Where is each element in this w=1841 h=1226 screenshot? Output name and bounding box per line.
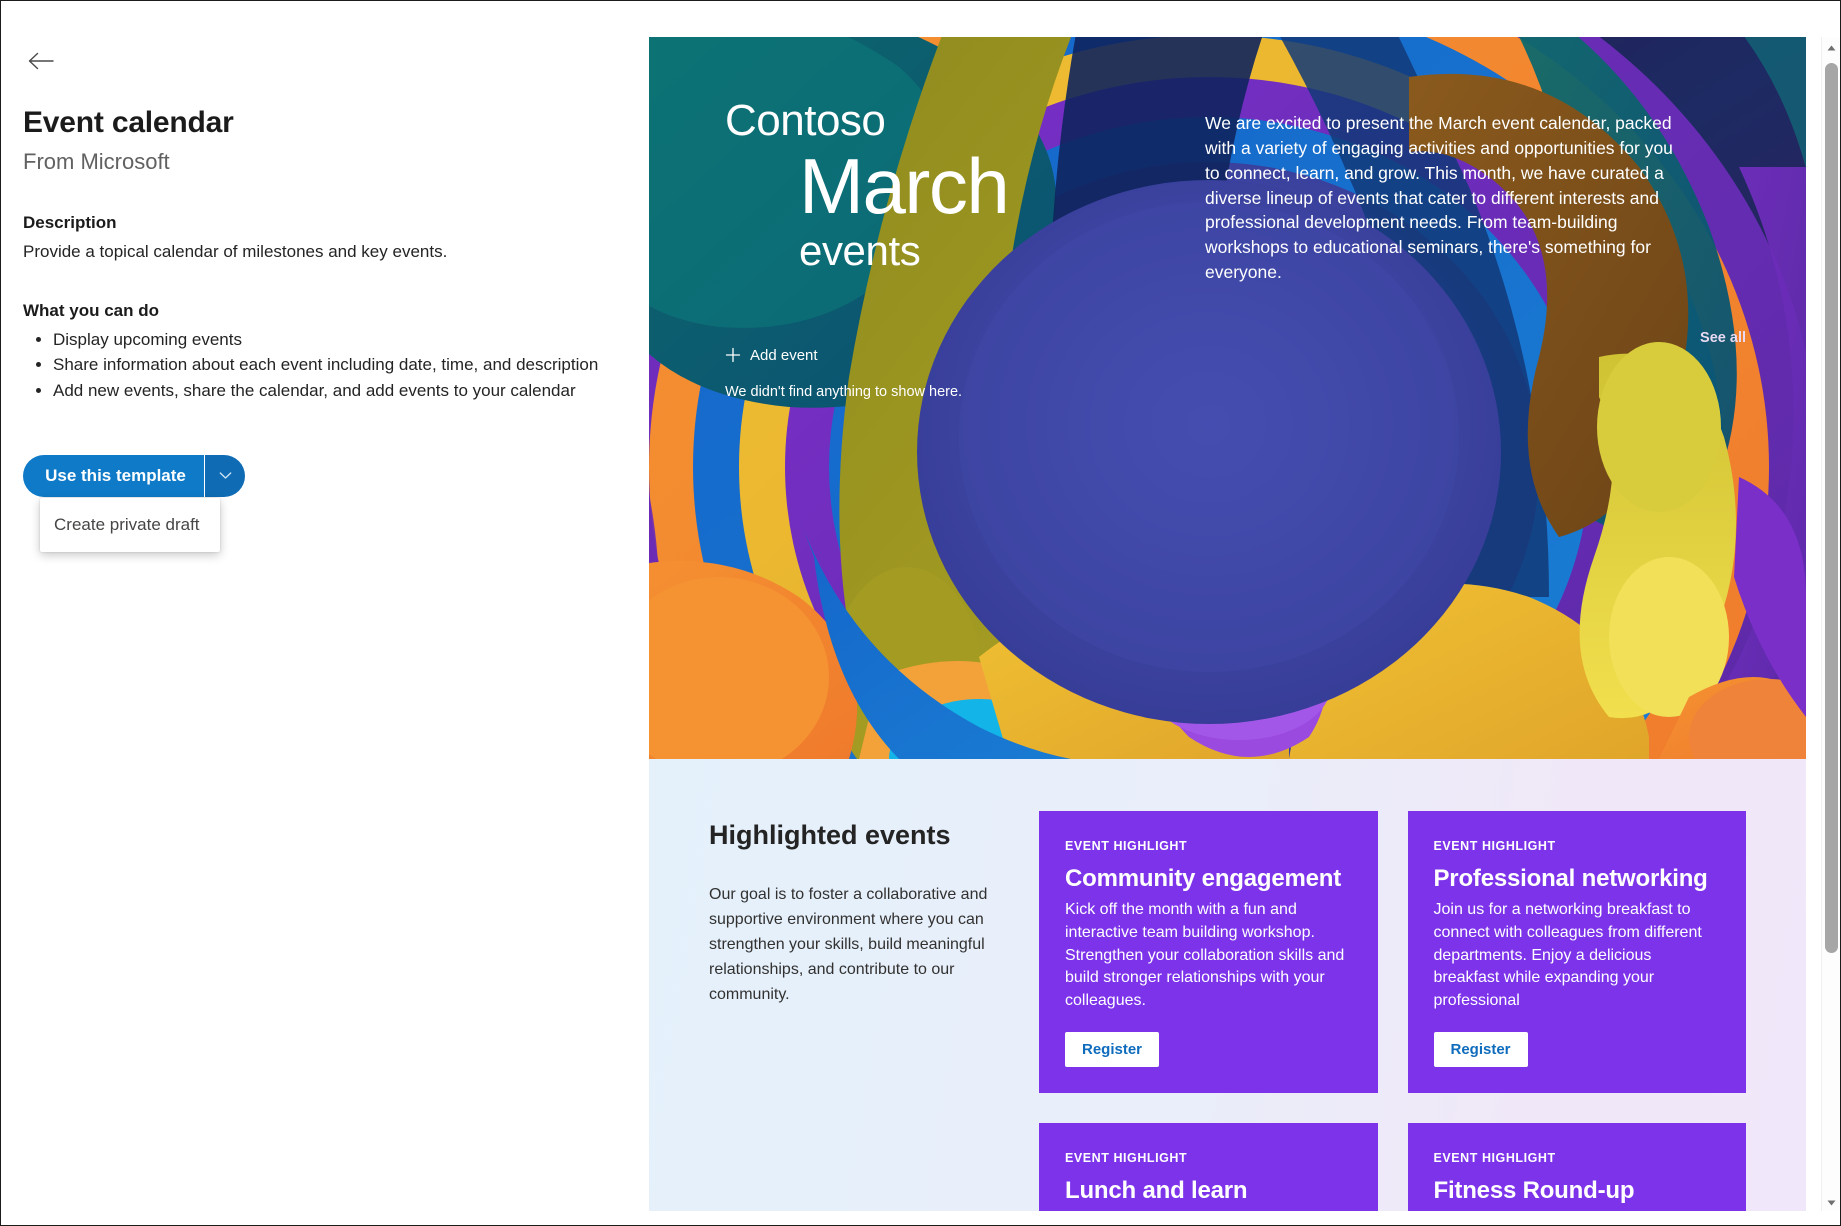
template-preview-pane: Contoso March events We are excited to p… [649, 37, 1823, 1211]
use-template-split-button: Use this template Create private draft [23, 455, 245, 497]
list-item: Add new events, share the calendar, and … [53, 379, 625, 403]
arrow-left-icon [28, 52, 54, 70]
card-body: Kick off the month with a fun and intera… [1065, 899, 1352, 1013]
template-info-pane: Event calendar From Microsoft Descriptio… [1, 1, 649, 1225]
page-title: Event calendar [23, 105, 625, 141]
hero-description: We are excited to present the March even… [1205, 111, 1675, 285]
register-button[interactable]: Register [1434, 1032, 1528, 1067]
highlights-intro: Highlighted events Our goal is to foster… [709, 811, 1005, 1211]
capabilities-list: Display upcoming events Share informatio… [23, 328, 625, 402]
scroll-up-button[interactable] [1822, 37, 1841, 56]
card-title: Professional networking [1434, 865, 1721, 893]
list-item: Display upcoming events [53, 328, 625, 352]
hero-subtitle: events [725, 229, 1165, 273]
highlights-title: Highlighted events [709, 819, 1005, 851]
card-kicker: EVENT HIGHLIGHT [1065, 839, 1352, 853]
hero-brand: Contoso [725, 97, 1165, 145]
event-card[interactable]: EVENT HIGHLIGHT Professional networking … [1408, 811, 1747, 1093]
card-kicker: EVENT HIGHLIGHT [1434, 839, 1721, 853]
register-button[interactable]: Register [1065, 1032, 1159, 1067]
hero-title-block: Contoso March events [725, 97, 1165, 285]
hero-description-block: We are excited to present the March even… [1205, 97, 1675, 285]
card-title: Fitness Round-up [1434, 1177, 1721, 1205]
card-kicker: EVENT HIGHLIGHT [1065, 1151, 1352, 1165]
card-body: Join us for a networking breakfast to co… [1434, 899, 1721, 1013]
template-detail-window: Event calendar From Microsoft Descriptio… [0, 0, 1841, 1226]
empty-state-message: We didn't find anything to show here. [725, 384, 1806, 400]
description-heading: Description [23, 212, 625, 234]
scroll-down-arrow-icon [1827, 1193, 1836, 1211]
card-title: Community engagement [1065, 865, 1352, 893]
event-cards-grid: EVENT HIGHLIGHT Community engagement Kic… [1039, 811, 1746, 1211]
card-title: Lunch and learn [1065, 1177, 1352, 1205]
description-text: Provide a topical calendar of milestones… [23, 240, 625, 265]
preview-scrollbar[interactable] [1821, 37, 1840, 1211]
highlights-body: Our goal is to foster a collaborative an… [709, 883, 1005, 1007]
event-card[interactable]: EVENT HIGHLIGHT Lunch and learn Join us … [1039, 1123, 1378, 1211]
capabilities-heading: What you can do [23, 300, 625, 322]
hero-month: March [725, 147, 1165, 225]
chevron-down-icon [219, 471, 232, 480]
list-item: Share information about each event inclu… [53, 353, 625, 377]
see-all-link[interactable]: See all [1700, 330, 1746, 346]
use-template-menu: Create private draft [40, 498, 220, 552]
hero-banner: Contoso March events We are excited to p… [649, 37, 1806, 759]
menu-item-create-private-draft[interactable]: Create private draft [40, 506, 220, 544]
template-author: From Microsoft [23, 148, 625, 176]
add-event-label: Add event [750, 347, 818, 364]
back-button[interactable] [19, 39, 63, 83]
scroll-up-arrow-icon [1827, 38, 1836, 56]
event-card[interactable]: EVENT HIGHLIGHT Community engagement Kic… [1039, 811, 1378, 1093]
add-event-button[interactable]: Add event [725, 347, 818, 364]
plus-icon [725, 347, 741, 363]
hero-content: Contoso March events We are excited to p… [649, 37, 1806, 285]
use-template-dropdown-toggle[interactable] [205, 455, 245, 497]
use-this-template-button[interactable]: Use this template [23, 455, 204, 497]
card-kicker: EVENT HIGHLIGHT [1434, 1151, 1721, 1165]
highlighted-events-section: Highlighted events Our goal is to foster… [649, 759, 1806, 1211]
scrollbar-thumb[interactable] [1825, 63, 1838, 953]
scroll-down-button[interactable] [1822, 1192, 1841, 1211]
event-card[interactable]: EVENT HIGHLIGHT Fitness Round-up Join us… [1408, 1123, 1747, 1211]
